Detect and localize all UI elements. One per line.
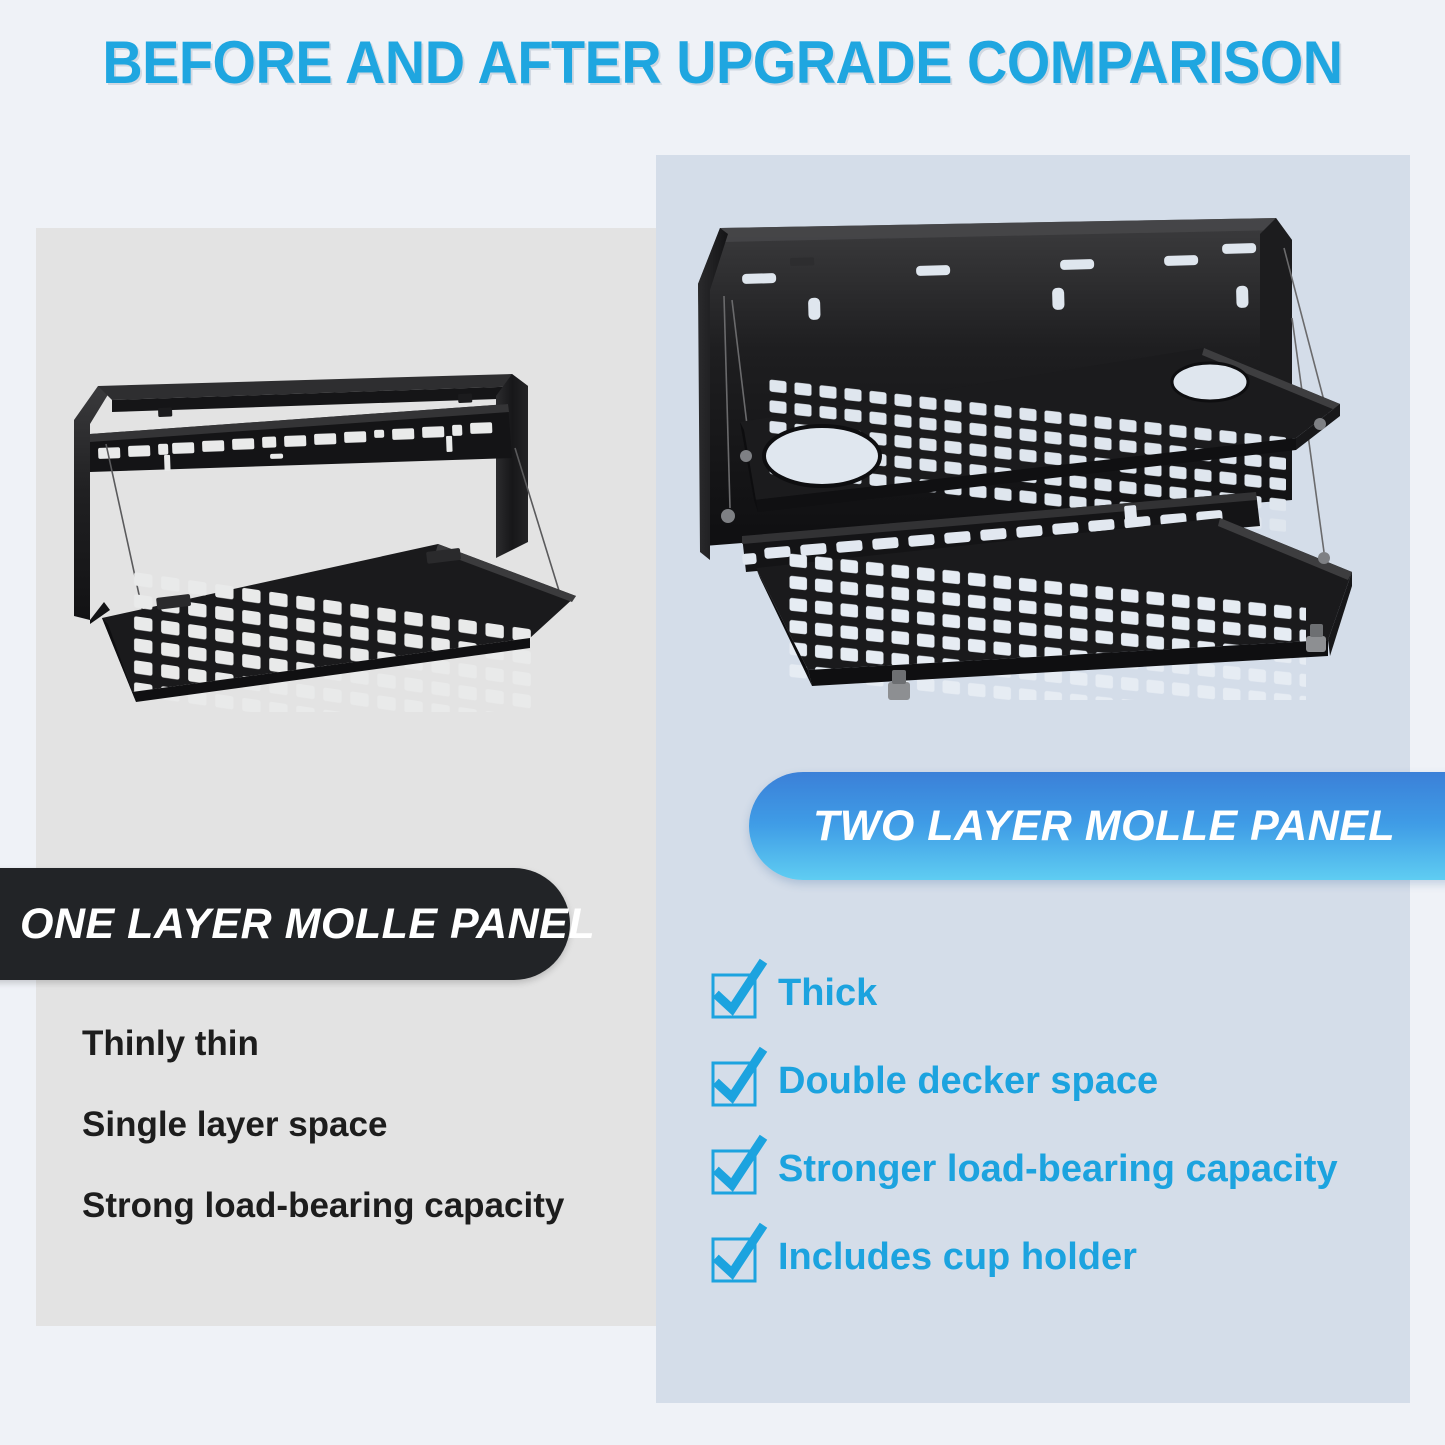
- badge-two-layer-molle-panel: TWO LAYER MOLLE PANEL: [749, 772, 1445, 880]
- page-title: BEFORE AND AFTER UPGRADE COMPARISON: [51, 28, 1395, 97]
- badge-two-layer-label: TWO LAYER MOLLE PANEL: [813, 802, 1395, 851]
- feature-label: Stronger load-bearing capacity: [778, 1150, 1338, 1188]
- checkbox-checked-icon: [712, 971, 756, 1015]
- badge-one-layer-molle-panel: ONE LAYER MOLLE PANEL: [0, 868, 570, 980]
- feature-label: Thick: [778, 974, 877, 1012]
- feature-item: Single layer space: [82, 1105, 642, 1145]
- feature-label: Double decker space: [778, 1062, 1158, 1100]
- feature-list-one-layer: Thinly thin Single layer space Strong lo…: [82, 1024, 642, 1267]
- feature-list-two-layer: Thick Double decker space Stronger load-…: [712, 968, 1432, 1320]
- feature-item: Thick: [712, 968, 1432, 1018]
- checkbox-checked-icon: [712, 1235, 756, 1279]
- feature-item: Strong load-bearing capacity: [82, 1186, 642, 1226]
- badge-one-layer-label: ONE LAYER MOLLE PANEL: [20, 900, 595, 949]
- feature-item: Thinly thin: [82, 1024, 642, 1064]
- feature-item: Includes cup holder: [712, 1232, 1432, 1282]
- checkbox-checked-icon: [712, 1147, 756, 1191]
- feature-label: Includes cup holder: [778, 1238, 1137, 1276]
- feature-item: Stronger load-bearing capacity: [712, 1144, 1432, 1194]
- checkbox-checked-icon: [712, 1059, 756, 1103]
- feature-item: Double decker space: [712, 1056, 1432, 1106]
- product-image-two-layer: [680, 200, 1380, 700]
- product-image-one-layer: [60, 372, 600, 712]
